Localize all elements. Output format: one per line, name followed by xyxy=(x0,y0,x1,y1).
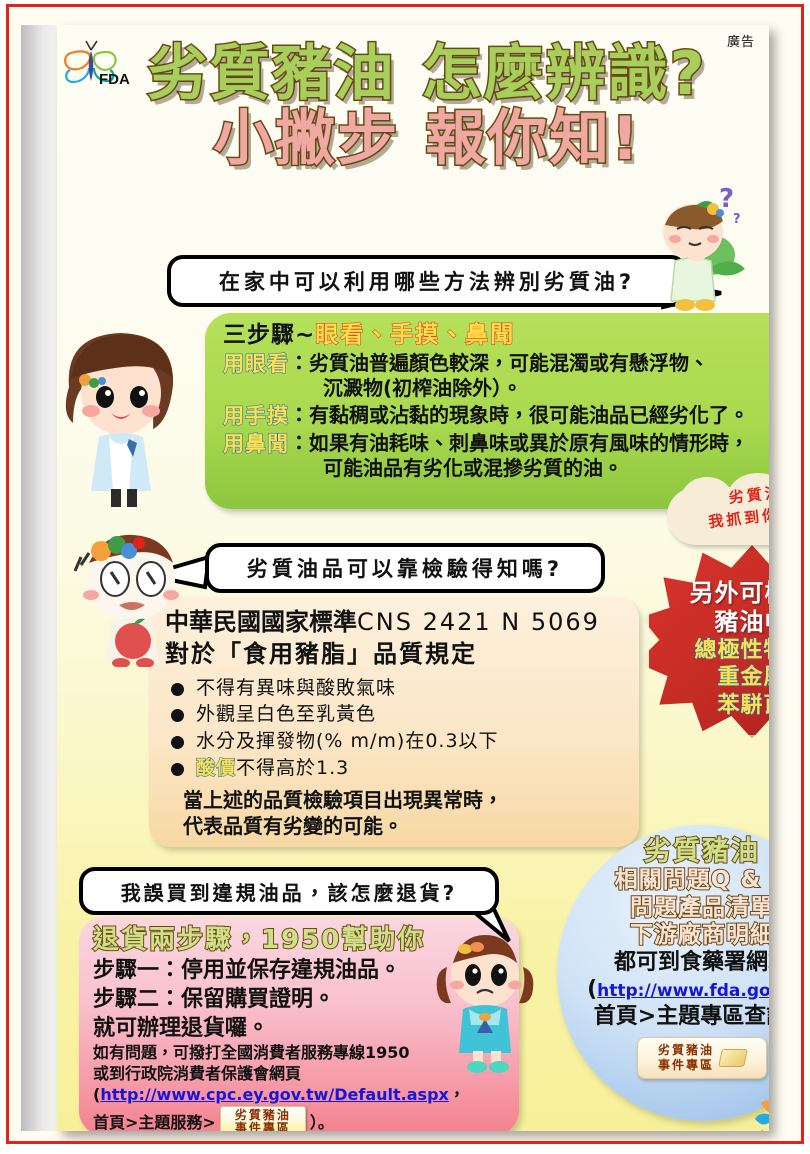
shocked-boy-illustration xyxy=(67,517,207,667)
step-text-touch: ：有黏稠或沾黏的現象時，很可能油品已經劣化了。 xyxy=(289,403,749,429)
step-sep-touch: ： xyxy=(289,403,309,427)
step-text-smell: ：如果有油耗味、刺鼻味或異於原有風味的情形時， 可能油品有劣化或混摻劣質的油。 xyxy=(289,431,749,482)
page-shadow-strip xyxy=(21,25,57,1131)
step-body-eye-1: 劣質油普遍顏色較深，可能混濁或有懸浮物、 xyxy=(309,351,709,375)
cns-item-3: 水分及揮發物(% m/m)在0.3以下 xyxy=(196,730,499,754)
extra-tests-burst: 另外可檢驗 豬油中 總極性物質 重金屬 苯駢芘 xyxy=(649,545,769,735)
girl-officer-illustration xyxy=(57,317,197,507)
footer-logo: 吃安心 藥安全 xyxy=(743,1087,769,1131)
step-label-smell: 用鼻聞 xyxy=(223,431,289,458)
bullet-icon xyxy=(171,763,184,776)
title-line-1: 劣質豬油怎麼辨識? xyxy=(107,43,747,106)
bullet-icon xyxy=(171,709,184,722)
cns-standard-panel: 中華民國國家標準CNS 2421 N 5069 對於「食用豬脂」品質規定 不得有… xyxy=(149,597,639,847)
thinking-boy-illustration: ? ? ? xyxy=(641,177,769,317)
step-row-eye: 用眼看 ：劣質油普遍顏色較深，可能混濁或有懸浮物、 沉澱物(初榨油除外）。 xyxy=(223,351,769,402)
bullet-icon xyxy=(171,736,184,749)
burst-item-3: 苯駢芘 xyxy=(649,692,769,720)
return-path-close: ）。 xyxy=(310,1113,334,1131)
cns-item-2: 外觀呈白色至乳黃色 xyxy=(196,703,376,727)
cns-standard-line-2: 對於「食用豬脂」品質規定 xyxy=(165,638,627,670)
cpc-event-zone-badge[interactable]: 劣質豬油 事件專區 xyxy=(220,1106,306,1131)
question-bubble-1-text: 在家中可以利用哪些方法辨別劣質油? xyxy=(219,266,635,296)
list-item: 酸價不得高於1.3 xyxy=(165,757,627,781)
three-steps-heading: 三步驟~眼看、手摸、鼻聞 xyxy=(223,321,769,350)
step-body-touch-1: 有黏稠或沾黏的現象時，很可能油品已經劣化了。 xyxy=(309,403,749,427)
title-line-2-part-a: 小撇步 xyxy=(213,104,399,174)
step-body-eye-2: 沉澱物(初榨油除外）。 xyxy=(289,376,709,402)
burst-item-2: 重金屬 xyxy=(649,664,769,692)
character-worried-girl xyxy=(429,923,549,1073)
poster-title: 劣質豬油怎麼辨識? 小撇步報你知! xyxy=(107,43,747,172)
blue-circle-line-4: 都可到食藥署網站 xyxy=(557,950,769,977)
cns-standard-line-1: 中華民國國家標準CNS 2421 N 5069 xyxy=(165,607,627,638)
blue-circle-title: 劣質豬油 xyxy=(557,837,769,867)
return-path-row: 首頁>主題服務> 劣質豬油 事件專區 ）。 xyxy=(93,1106,509,1131)
question-bubble-2: 劣質油品可以靠檢驗得知嗎? xyxy=(205,543,605,593)
cns-closing-line-1: 當上述的品質檢驗項目出現異常時， xyxy=(165,787,627,813)
step-row-smell: 用鼻聞 ：如果有油耗味、刺鼻味或異於原有風味的情形時， 可能油品有劣化或混摻劣質… xyxy=(223,431,769,482)
cns-item-4-highlight: 酸價 xyxy=(196,757,236,779)
caught-you-cloud: 劣質油 我抓到你了! xyxy=(667,477,769,553)
cns-item-4: 酸價不得高於1.3 xyxy=(196,757,349,781)
return-url-row: (http://www.cpc.ey.gov.tw/Default.aspx， xyxy=(93,1085,509,1106)
blue-url-open-paren: ( xyxy=(587,977,597,1002)
three-steps-heading-senses: 眼看、手摸、鼻聞 xyxy=(315,322,515,348)
return-path-text: 首頁>主題服務> xyxy=(93,1113,216,1131)
cns-standard-code: CNS 2421 N 5069 xyxy=(357,608,600,636)
poster-frame: 廣告 FDA 劣質豬油怎麼辨識? 小撇步報你知! xyxy=(6,4,804,1144)
character-girl-officer xyxy=(57,317,197,507)
title-line-2-part-b: 報你知! xyxy=(425,104,640,174)
list-item: 外觀呈白色至乳黃色 xyxy=(165,703,627,727)
burst-line-2: 豬油中 xyxy=(649,608,769,637)
step-label-eye: 用眼看 xyxy=(223,351,289,378)
cns-closing-line-2: 代表品質有劣變的可能。 xyxy=(165,813,627,839)
question-bubble-1: 在家中可以利用哪些方法辨別劣質油? xyxy=(167,255,687,307)
poster-root: 廣告 FDA 劣質豬油怎麼辨識? 小撇步報你知! xyxy=(0,0,810,1154)
step-body-smell-1: 如果有油耗味、刺鼻味或異於原有風味的情形時， xyxy=(309,431,749,455)
question-bubble-3-text: 我誤買到違規油品，該怎麼退貨? xyxy=(121,877,458,906)
fda-website-circle: 劣質豬油 相關問題Q & A 問題產品清單 下游廠商明細 都可到食藥署網站 (h… xyxy=(557,825,769,1121)
blue-circle-sub-3: 下游廠商明細 xyxy=(557,922,769,950)
fda-badge-text: 劣質豬油 事件專區 xyxy=(658,1043,714,1072)
blue-circle-url-row: (http://www.fda.gov.tw/ xyxy=(557,977,769,1004)
step-sep-smell: ： xyxy=(289,431,309,455)
cns-item-4-rest: 不得高於1.3 xyxy=(236,757,349,779)
burst-line-1: 另外可檢驗 xyxy=(649,579,769,608)
return-url-comma: ， xyxy=(449,1085,465,1104)
title-line-1-part-a: 劣質豬油 xyxy=(148,39,396,109)
cpc-badge-line-2: 事件專區 xyxy=(221,1122,305,1131)
character-thinking-boy: ? ? ? xyxy=(641,177,769,317)
blue-circle-sub-1: 相關問題Q & A xyxy=(557,867,769,895)
fda-badge-line-2: 事件專區 xyxy=(658,1058,714,1072)
fda-event-zone-badge[interactable]: 劣質豬油 事件專區 xyxy=(637,1037,767,1079)
blue-circle-line-5: 首頁>主題專區查詢） xyxy=(557,1004,769,1031)
fda-website-link[interactable]: http://www.fda.gov.tw/ xyxy=(597,981,769,1001)
question-bubble-2-text: 劣質油品可以靠檢驗得知嗎? xyxy=(247,553,563,583)
bullet-icon xyxy=(171,683,184,696)
blue-circle-sub-2: 問題產品清單 xyxy=(557,895,769,923)
title-line-1-part-b: 怎麼辨識? xyxy=(422,39,707,109)
poster-page: 廣告 FDA 劣質豬油怎麼辨識? 小撇步報你知! xyxy=(57,25,769,1131)
question-bubble-3: 我誤買到違規油品，該怎麼退貨? xyxy=(79,867,499,915)
step-label-touch: 用手摸 xyxy=(223,403,289,430)
three-steps-heading-prefix: 三步驟~ xyxy=(223,322,315,348)
lard-block-icon xyxy=(718,1049,748,1067)
cns-item-1: 不得有異味與酸敗氣味 xyxy=(196,677,396,701)
cns-requirement-list: 不得有異味與酸敗氣味 外觀呈白色至乳黃色 水分及揮發物(% m/m)在0.3以下… xyxy=(165,677,627,781)
step-text-eye: ：劣質油普遍顏色較深，可能混濁或有懸浮物、 沉澱物(初榨油除外）。 xyxy=(289,351,709,402)
footer-slogan: 吃安心 藥安全 xyxy=(743,1128,769,1131)
step-row-touch: 用手摸 ：有黏稠或沾黏的現象時，很可能油品已經劣化了。 xyxy=(223,403,769,430)
step-sep-eye: ： xyxy=(289,351,309,375)
cpc-website-link[interactable]: http://www.cpc.ey.gov.tw/Default.aspx xyxy=(100,1085,449,1104)
heart-people-icon xyxy=(743,1087,769,1131)
svg-text:?: ? xyxy=(733,212,741,227)
character-shocked-boy xyxy=(67,517,207,667)
list-item: 水分及揮發物(% m/m)在0.3以下 xyxy=(165,730,627,754)
list-item: 不得有異味與酸敗氣味 xyxy=(165,677,627,701)
burst-item-1: 總極性物質 xyxy=(649,637,769,665)
fda-badge-line-1: 劣質豬油 xyxy=(658,1043,714,1057)
worried-girl-illustration xyxy=(429,923,549,1073)
title-line-2: 小撇步報你知! xyxy=(107,106,747,172)
